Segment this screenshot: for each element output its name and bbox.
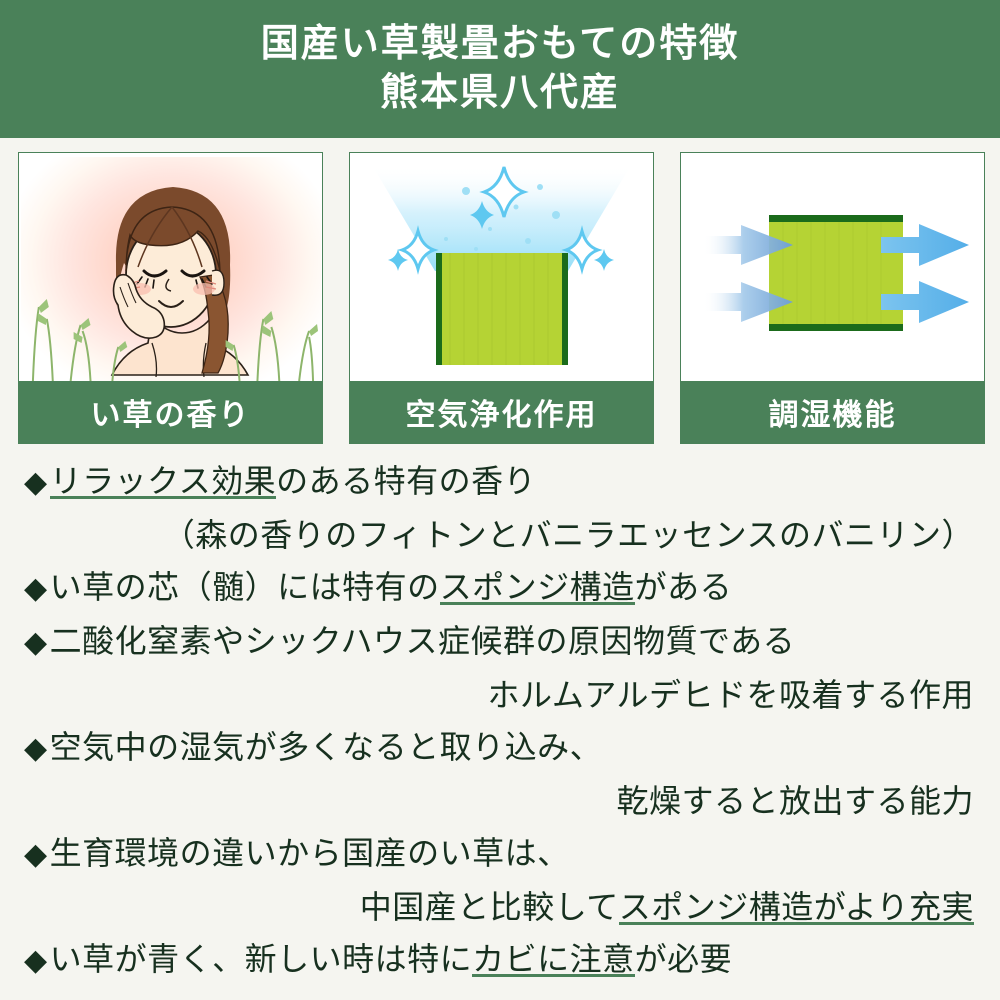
continuation-line: ホルムアルデヒドを吸着する作用 <box>0 669 1000 721</box>
header-banner: 国産い草製畳おもての特徴 熊本県八代産 <box>0 0 1000 138</box>
bullet-line: ◆二酸化窒素やシックハウス症候群の原因物質である <box>0 615 1000 669</box>
diamond-bullet-icon: ◆ <box>24 626 48 659</box>
bullet-line: ◆い草が青く、新しい時は特にカビに注意が必要 <box>0 933 1000 987</box>
continuation-line: （森の香りのフィトンとバニラエッセンスのバニリン） <box>0 509 1000 561</box>
feature-card-label-humidity-control: 調湿機能 <box>681 381 984 443</box>
bullet-line: ◆空気中の湿気が多くなると取り込み、 <box>0 721 1000 775</box>
diamond-bullet-icon: ◆ <box>24 572 48 605</box>
feature-card-row: い草の香り <box>18 152 985 444</box>
bullet-text: のある特有の香り <box>276 463 536 499</box>
bullet-text: 空気中の湿気が多くなると取り込み、 <box>50 729 603 765</box>
highlighted-term: リラックス効果 <box>50 463 277 502</box>
bullet-line: ◆生育環境の違いから国産のい草は、 <box>0 827 1000 881</box>
feature-card-label-scent: い草の香り <box>19 381 322 443</box>
scent-illustration <box>19 153 322 381</box>
continuation-line: 乾燥すると放出する能力 <box>0 775 1000 827</box>
rush-grass-illustration <box>19 261 322 381</box>
humidity-control-illustration <box>681 153 984 381</box>
diamond-bullet-icon: ◆ <box>24 466 48 499</box>
feature-card-humidity-control: 調湿機能 <box>680 152 985 444</box>
continuation-line: 中国産と比較してスポンジ構造がより充実 <box>0 881 1000 933</box>
highlighted-term: カビに注意 <box>472 941 635 980</box>
bullet-line: ◆い草の芯（髄）には特有のスポンジ構造がある <box>0 561 1000 615</box>
bullet-text: 二酸化窒素やシックハウス症候群の原因物質である <box>50 623 796 659</box>
bullet-text: い草の芯（髄）には特有の <box>50 569 440 605</box>
bullet-line: ◆リラックス効果のある特有の香り <box>0 455 1000 509</box>
bullet-text: い草が青く、新しい時は特に <box>50 941 473 977</box>
bullet-text: ホルムアルデヒドを吸着する作用 <box>487 677 974 713</box>
header-title-line2: 熊本県八代産 <box>380 70 620 118</box>
bullet-text: が必要 <box>635 941 733 977</box>
air-purification-illustration <box>350 153 653 381</box>
header-title-line1: 国産い草製畳おもての特徴 <box>261 21 739 69</box>
bullet-text: がある <box>635 569 733 605</box>
diamond-bullet-icon: ◆ <box>24 838 48 871</box>
airflow-arrows-graphic <box>681 153 984 381</box>
sparkle-fan-graphic <box>350 153 653 381</box>
bullet-text: 中国産と比較して <box>360 889 619 925</box>
feature-bullet-list: ◆リラックス効果のある特有の香り（森の香りのフィトンとバニラエッセンスのバニリン… <box>0 455 1000 987</box>
feature-card-air-purification: 空気浄化作用 <box>349 152 654 444</box>
bullet-text: 乾燥すると放出する能力 <box>616 783 974 819</box>
bullet-text: （森の香りのフィトンとバニラエッセンスのバニリン） <box>163 517 974 553</box>
bullet-text: 生育環境の違いから国産のい草は、 <box>50 835 570 871</box>
highlighted-term: スポンジ構造 <box>440 569 635 608</box>
feature-card-label-air-purification: 空気浄化作用 <box>350 381 653 443</box>
infographic-page: 国産い草製畳おもての特徴 熊本県八代産 <box>0 0 1000 1000</box>
highlighted-term: スポンジ構造がより充実 <box>619 889 974 928</box>
diamond-bullet-icon: ◆ <box>24 944 48 977</box>
diamond-bullet-icon: ◆ <box>24 732 48 765</box>
feature-card-scent: い草の香り <box>18 152 323 444</box>
